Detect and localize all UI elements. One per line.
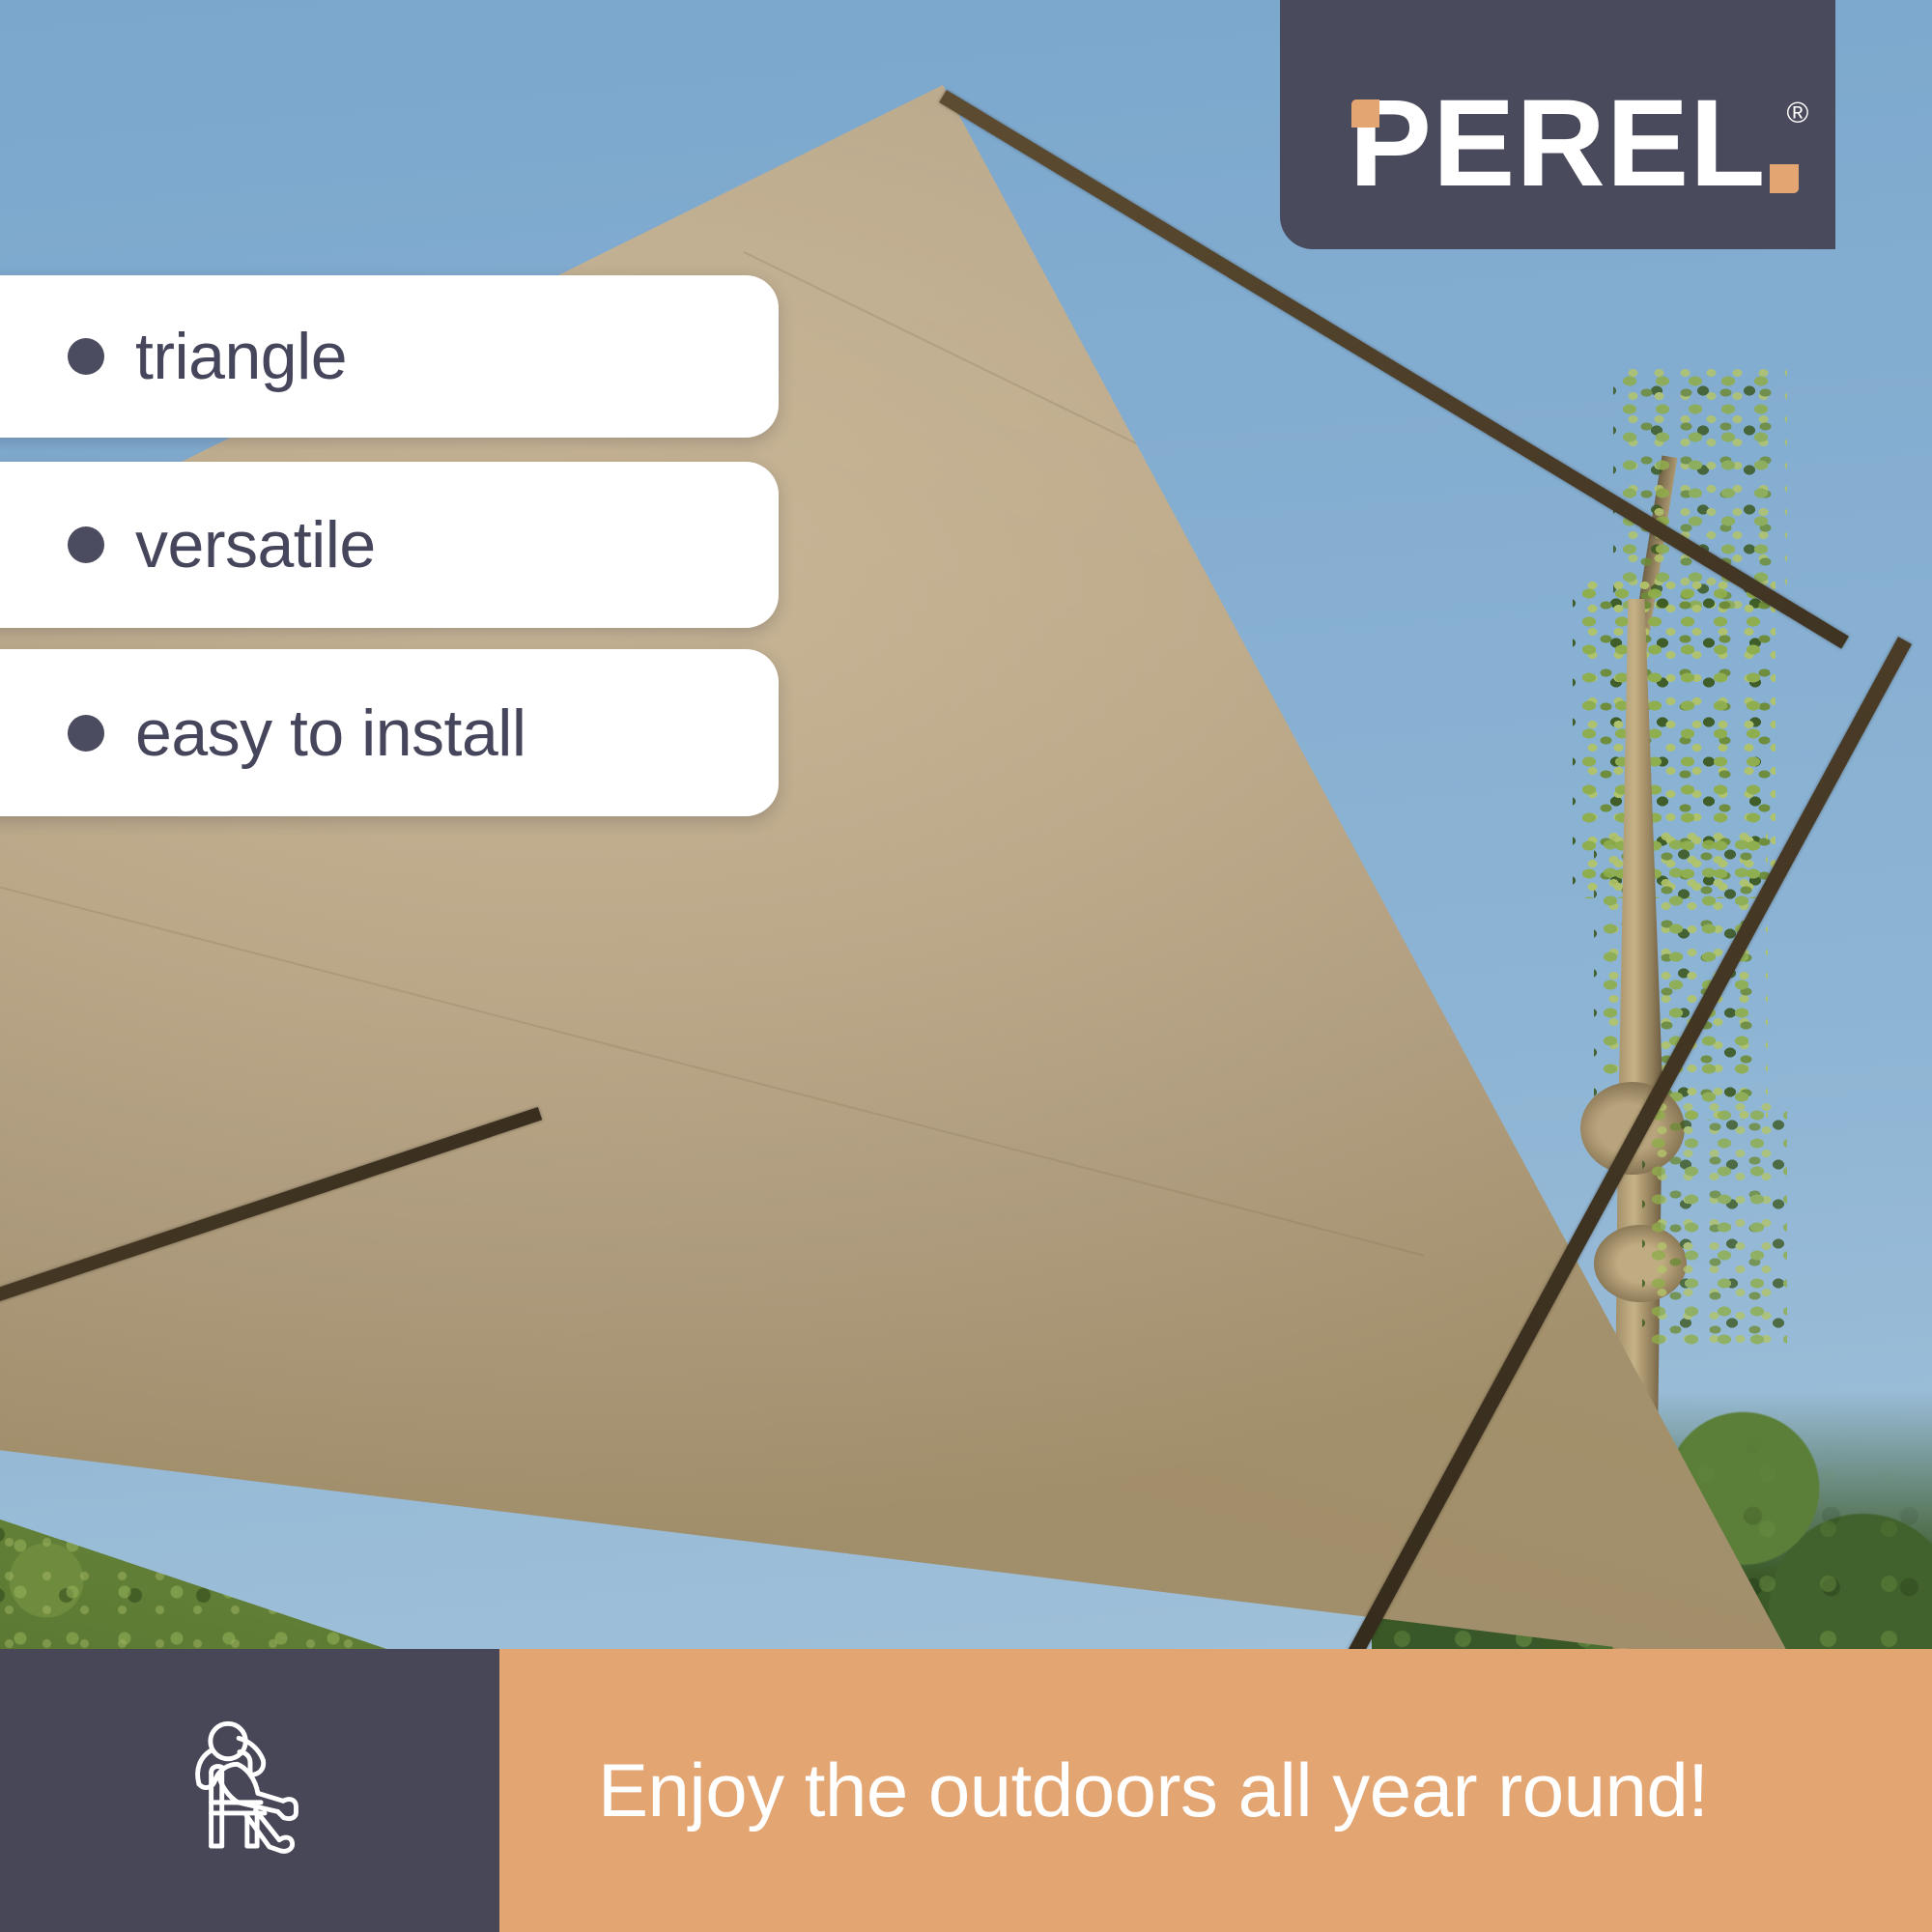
bottom-banner: Enjoy the outdoors all year round! xyxy=(0,1649,1932,1932)
tree-leaf-cluster xyxy=(1642,1101,1787,1352)
feature-pill-versatile: versatile xyxy=(0,462,779,628)
banner-icon-panel xyxy=(0,1649,499,1932)
registered-trademark-symbol: ® xyxy=(1787,98,1809,128)
logo-accent-dot-icon xyxy=(1770,164,1799,193)
feature-pill-triangle: triangle xyxy=(0,275,779,438)
brand-logo: PEREL ® xyxy=(1350,94,1767,195)
tree-leaf-cluster xyxy=(1613,367,1787,609)
bullet-dot-icon xyxy=(68,715,104,752)
bullet-dot-icon xyxy=(68,526,104,563)
feature-pill-label: versatile xyxy=(135,507,376,582)
banner-tagline-panel: Enjoy the outdoors all year round! xyxy=(499,1649,1932,1932)
feature-pill-label: triangle xyxy=(135,319,347,394)
logo-accent-square-icon xyxy=(1351,99,1379,128)
feature-pill-easy-to-install: easy to install xyxy=(0,649,779,816)
brand-logo-badge: PEREL ® xyxy=(1280,0,1835,249)
brand-name: PEREL xyxy=(1350,94,1767,195)
person-relaxing-in-lounge-chair-icon xyxy=(158,1699,342,1883)
banner-tagline-text: Enjoy the outdoors all year round! xyxy=(598,1747,1708,1834)
bullet-dot-icon xyxy=(68,338,104,375)
feature-pill-label: easy to install xyxy=(135,696,526,771)
